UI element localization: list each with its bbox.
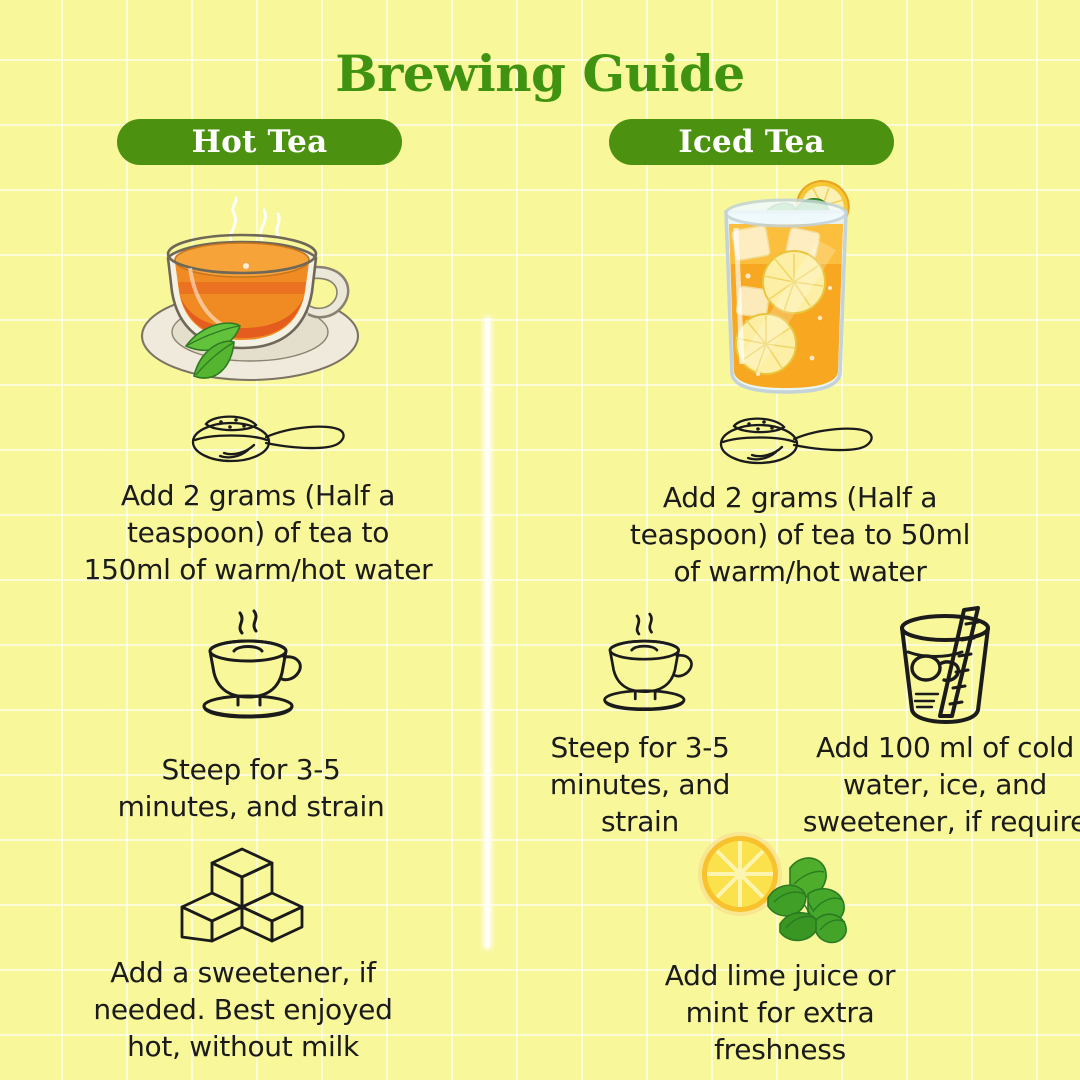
iced-step-3-text: Add 100 ml of cold water, ice, and sweet… — [800, 730, 1080, 841]
brewing-guide-infographic: Brewing Guide Hot Tea Iced Tea — [0, 0, 1080, 1080]
spoon-with-tea-leaves-icon — [188, 412, 348, 464]
iced-tea-badge: Iced Tea — [609, 119, 894, 165]
iced-step-4-text: Add lime juice or mint for extra freshne… — [635, 958, 925, 1069]
hot-step-1-text: Add 2 grams (Half a teaspoon) of tea to … — [63, 478, 453, 589]
hot-step-3-text: Add a sweetener, if needed. Best enjoyed… — [78, 955, 408, 1066]
sugar-cubes-icon — [180, 845, 305, 945]
cold-glass-with-straw-icon — [890, 606, 998, 724]
hot-step-2-text: Steep for 3-5 minutes, and strain — [81, 752, 421, 826]
iced-tea-glass-illustration — [700, 168, 880, 400]
column-divider — [485, 318, 490, 948]
iced-step-1-text: Add 2 grams (Half a teaspoon) of tea to … — [600, 480, 1000, 591]
iced-step-2-text: Steep for 3-5 minutes, and strain — [527, 730, 753, 841]
lemon-slice-and-mint-illustration — [694, 828, 864, 950]
steaming-teacup-icon — [592, 610, 702, 712]
steaming-teacup-icon — [190, 607, 312, 719]
spoon-with-tea-leaves-icon — [716, 414, 876, 466]
hot-tea-cup-illustration — [128, 196, 378, 401]
page-title: Brewing Guide — [0, 44, 1080, 103]
hot-tea-badge: Hot Tea — [117, 119, 402, 165]
